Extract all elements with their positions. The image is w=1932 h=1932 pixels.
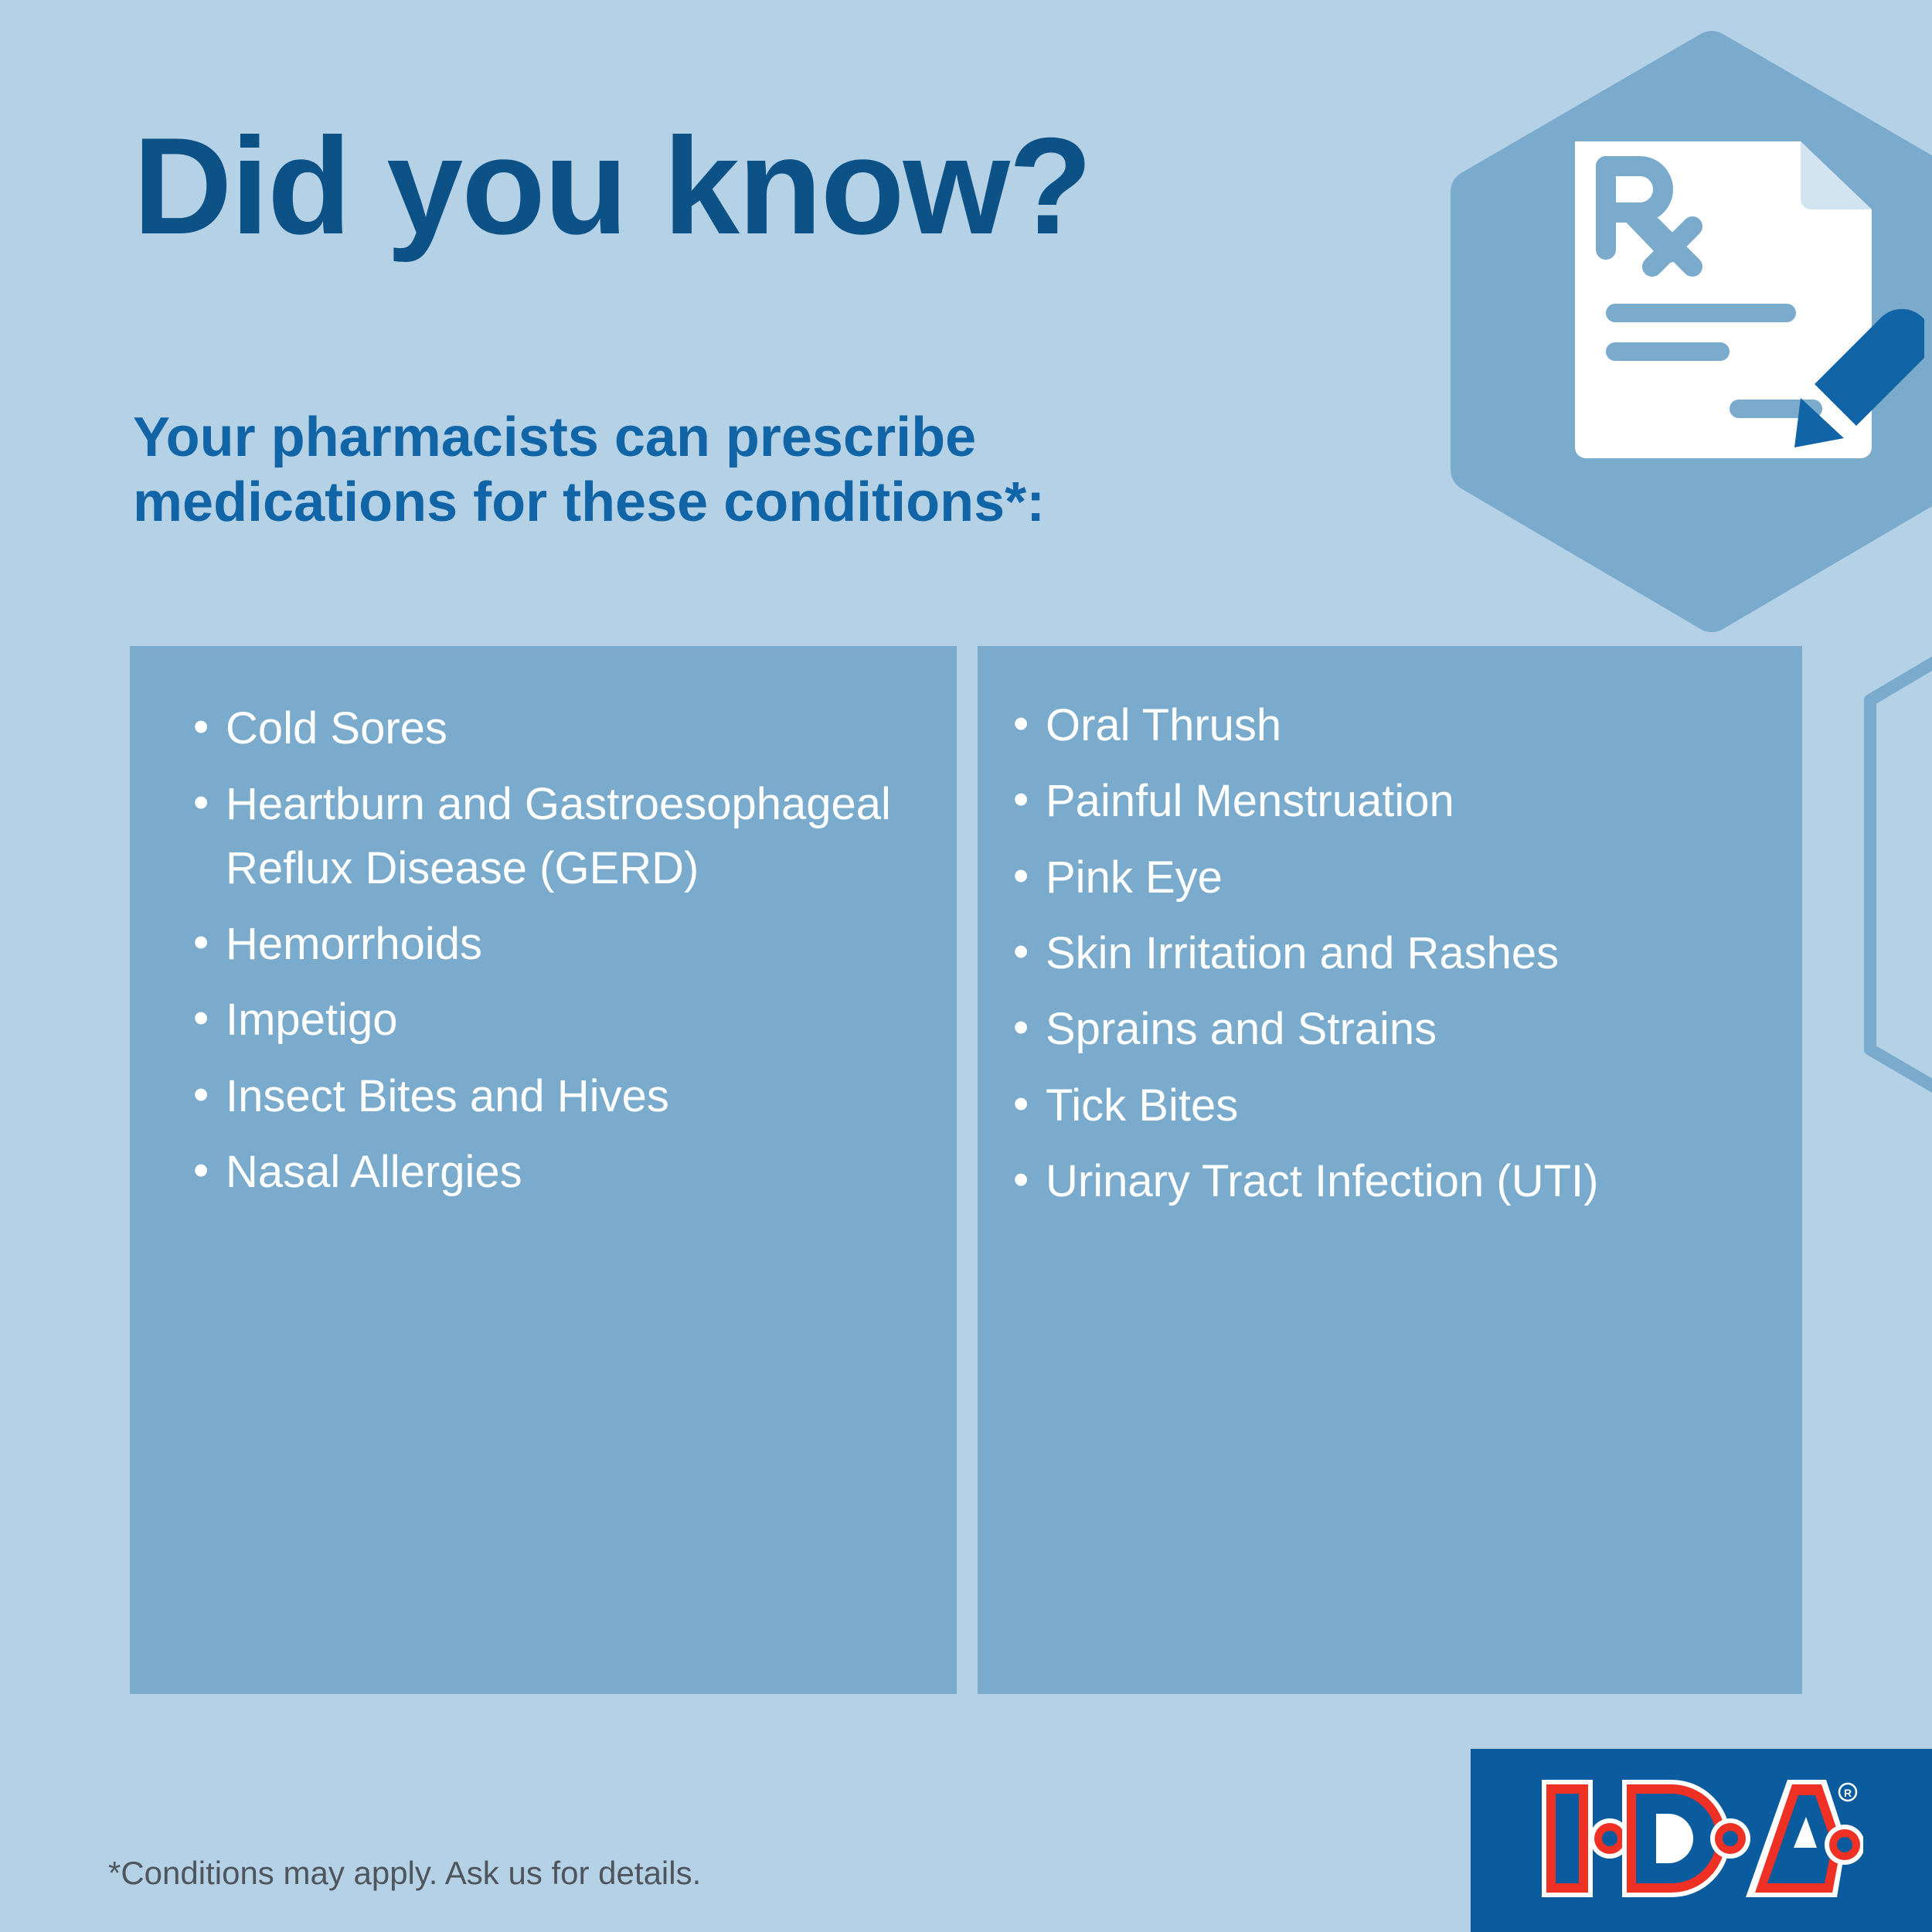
list-item: Nasal Allergies	[193, 1141, 926, 1204]
list-item: Tick Bites	[1013, 1074, 1771, 1138]
subheading-line-2: medications for these conditions*:	[133, 471, 1045, 536]
document-line-1	[1606, 304, 1796, 322]
subheading: Your pharmacists can prescribe medicatio…	[133, 406, 1045, 535]
list-item: Heartburn and Gastroesophageal Reflux Di…	[193, 773, 926, 900]
list-item: Urinary Tract Infection (UTI)	[1013, 1150, 1771, 1213]
logo-letter-i	[1542, 1780, 1593, 1897]
prescription-document-with-pen-icon	[1569, 135, 1924, 468]
svg-text:R: R	[1844, 1787, 1852, 1799]
list-item: Sprains and Strains	[1013, 998, 1771, 1061]
logo-separator-dot-2	[1710, 1818, 1750, 1859]
registered-trademark-icon: R	[1839, 1784, 1856, 1801]
ida-logo-plate: R	[1471, 1749, 1932, 1932]
infographic-canvas: Did you know? Your pharmacists can presc…	[0, 0, 1932, 1932]
list-item: Insect Bites and Hives	[193, 1065, 926, 1128]
list-item: Hemorrhoids	[193, 913, 926, 976]
list-item: Skin Irritation and Rashes	[1013, 922, 1771, 985]
list-item: Impetigo	[193, 988, 926, 1052]
document-line-2	[1606, 342, 1730, 361]
hexagon-outline-shape	[1870, 595, 1932, 1153]
conditions-panel-right: Oral Thrush Painful Menstruation Pink Ey…	[978, 646, 1802, 1694]
conditions-panel-left: Cold Sores Heartburn and Gastroesophagea…	[130, 646, 957, 1694]
list-item: Cold Sores	[193, 697, 926, 760]
logo-trailing-dot	[1825, 1825, 1863, 1865]
subheading-line-1: Your pharmacists can prescribe	[133, 406, 1045, 471]
page-title: Did you know?	[133, 117, 1091, 255]
list-item: Oral Thrush	[1013, 694, 1771, 757]
conditions-list-right: Oral Thrush Painful Menstruation Pink Ey…	[978, 646, 1802, 1214]
footnote-disclaimer: *Conditions may apply. Ask us for detail…	[108, 1855, 701, 1892]
document-fold-highlight	[1801, 141, 1872, 209]
list-item: Pink Eye	[1013, 846, 1771, 910]
conditions-list-left: Cold Sores Heartburn and Gastroesophagea…	[130, 646, 957, 1205]
list-item: Painful Menstruation	[1013, 770, 1771, 833]
ida-logo: R	[1539, 1777, 1863, 1900]
